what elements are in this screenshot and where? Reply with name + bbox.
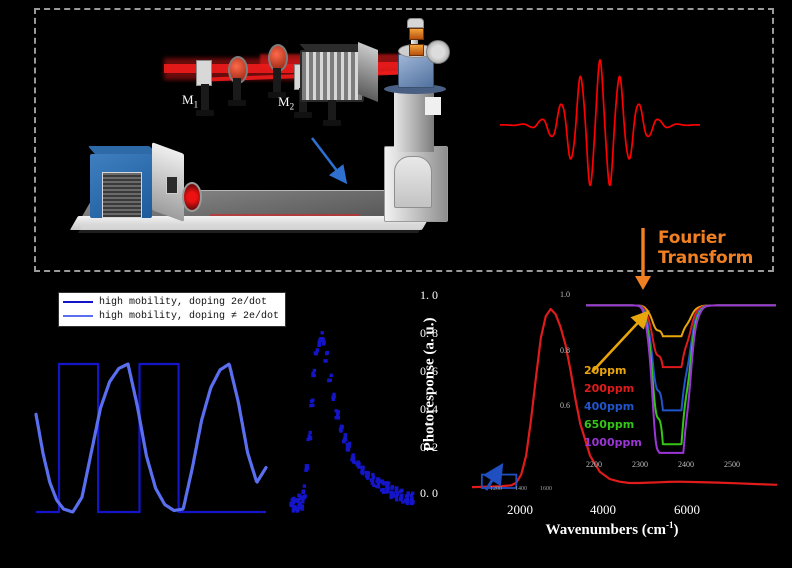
mirror-m1-plate — [196, 60, 212, 86]
detector-grill-icon — [300, 50, 364, 102]
laser-output-port — [166, 176, 178, 194]
inset-legend-20ppm: 20ppm — [584, 364, 627, 377]
scatter-point — [375, 485, 378, 488]
cryostat-cap — [407, 18, 424, 28]
inset-legend-1000ppm: 1000ppm — [584, 436, 642, 449]
scatter-point — [404, 498, 407, 501]
x-tick-2000: 2000 — [507, 502, 533, 518]
scatter-point — [399, 498, 402, 501]
label-mirror-m1: M1 — [182, 92, 198, 110]
legend-swatch-dark-icon — [63, 301, 93, 303]
laser-output-lens-icon — [182, 182, 202, 212]
scatter-point — [313, 369, 316, 372]
scatter-point — [305, 467, 308, 470]
scatter-point — [361, 466, 364, 469]
x-minor-tick-1600: 1600 — [540, 486, 552, 492]
scatter-point — [380, 488, 383, 491]
interferogram-trace — [500, 55, 700, 195]
inset-curve-20ppm — [586, 305, 776, 336]
scatter-point — [321, 331, 324, 334]
scatter-point — [376, 477, 379, 480]
scatter-point — [302, 489, 305, 492]
lens-1-post — [233, 78, 241, 100]
detector-module — [300, 44, 378, 100]
sample-post — [273, 68, 281, 92]
scatter-point — [325, 352, 328, 355]
scatter-point — [400, 495, 403, 498]
scatter-point — [346, 448, 349, 451]
x-minor-tick-1400: 1400 — [515, 486, 527, 492]
mirror-m1-base — [196, 110, 214, 116]
scatter-point — [305, 464, 308, 467]
optical-table-edge — [78, 226, 422, 233]
scatter-point — [346, 443, 349, 446]
gas-absorption-inset: 1.0 0.8 0.6 20ppm 200ppm 400ppm 650ppm 1… — [560, 286, 785, 476]
scatter-point — [356, 462, 359, 465]
scatter-point — [370, 478, 373, 481]
laser-box-front — [90, 154, 152, 218]
detector-side — [358, 42, 378, 102]
scatter-point — [332, 393, 335, 396]
detector-base — [323, 120, 341, 126]
inset-x-tick-2200: 2200 — [586, 460, 602, 469]
inset-y-tick-0.8: 0.8 — [560, 346, 570, 355]
cryostat-amber-lower-icon — [409, 44, 424, 56]
legend-item-0: high mobility, doping 2e/dot — [63, 295, 279, 309]
inset-y-tick-1.0: 1.0 — [560, 290, 570, 299]
scatter-point — [371, 473, 374, 476]
optical-table-illustration: M1 M2 — [60, 18, 460, 248]
scatter-point — [342, 440, 345, 443]
scatter-point — [395, 496, 398, 499]
scatter-point — [352, 453, 355, 456]
scatter-point — [300, 506, 303, 509]
scatter-point — [337, 416, 340, 419]
fourier-transform-label: Fourier Transform — [658, 228, 753, 268]
cryostat-head-panel — [425, 97, 441, 115]
scatter-point — [407, 491, 410, 494]
cryostat-window — [394, 156, 432, 208]
sample-pointer-arrow-icon — [310, 136, 356, 188]
scatter-point — [337, 411, 340, 414]
scatter-point — [406, 502, 409, 505]
spectrum-x-axis-label: Wavenumbers (cm-1) — [482, 520, 742, 539]
cryostat-handwheel-icon — [426, 40, 450, 64]
inset-legend-200ppm: 200ppm — [584, 382, 634, 395]
label-mirror-m2: M2 — [278, 94, 294, 112]
inset-x-tick-2500: 2500 — [724, 460, 740, 469]
scatter-point — [386, 486, 389, 489]
time-trace-canvas — [18, 316, 418, 528]
x-minor-tick-1200: 1200 — [490, 486, 502, 492]
scatter-point — [292, 505, 295, 508]
scatter-point — [297, 494, 300, 497]
scatter-point — [357, 465, 360, 468]
scatter-point — [311, 374, 314, 377]
scatter-point — [343, 436, 346, 439]
scatter-point — [366, 475, 369, 478]
scatter-point — [390, 486, 393, 489]
laser-source-box — [90, 146, 186, 218]
scatter-point — [381, 479, 384, 482]
photoresponse-time-plot: high mobility, doping 2e/dot high mobili… — [18, 288, 418, 528]
x-tick-6000: 6000 — [674, 502, 700, 518]
scatter-point — [332, 398, 335, 401]
figure-canvas: M1 M2 — [0, 0, 792, 568]
scatter-point — [303, 484, 306, 487]
inset-legend-400ppm: 400ppm — [584, 400, 634, 413]
lens-1-base — [228, 100, 246, 106]
inset-y-tick-0.6: 0.6 — [560, 401, 570, 410]
laser-grill-icon — [102, 172, 142, 218]
scatter-point — [311, 399, 314, 402]
scatter-point — [309, 431, 312, 434]
inset-legend-650ppm: 650ppm — [584, 418, 634, 431]
scatter-point — [389, 496, 392, 499]
ftir-spectrum-plot: Photoresponse (a. u.) 1. 0 0. 8 0. 6 0. … — [412, 280, 792, 568]
scatter-point — [316, 348, 319, 351]
scatter-point — [301, 500, 304, 503]
detector-post — [328, 100, 336, 120]
scatter-point — [352, 457, 355, 460]
scatter-point — [322, 338, 325, 341]
scatter-point — [318, 341, 321, 344]
scatter-point — [296, 509, 299, 512]
mirror-m1-post — [201, 84, 209, 110]
scatter-point — [395, 486, 398, 489]
scatter-point — [385, 481, 388, 484]
scatter-point — [372, 484, 375, 487]
beam-floor-reflection — [209, 214, 360, 216]
scatter-point — [323, 359, 326, 362]
scatter-point — [330, 374, 333, 377]
inset-x-tick-2400: 2400 — [678, 460, 694, 469]
cryostat-column — [378, 18, 464, 228]
fourier-transform-annotation: Fourier Transform — [630, 228, 780, 288]
scatter-point — [303, 496, 306, 499]
scatter-point — [360, 470, 363, 473]
legend-label-0: high mobility, doping 2e/dot — [99, 297, 267, 308]
cryostat-amber-upper-icon — [409, 28, 424, 40]
x-tick-4000: 4000 — [590, 502, 616, 518]
scatter-point — [309, 437, 312, 440]
scatter-point — [386, 490, 389, 493]
scatter-point — [399, 490, 402, 493]
inset-x-tick-2300: 2300 — [632, 460, 648, 469]
scatter-point — [340, 425, 343, 428]
mirror-m2-base — [294, 112, 312, 118]
scatter-point — [311, 404, 314, 407]
scatter-point — [329, 379, 332, 382]
